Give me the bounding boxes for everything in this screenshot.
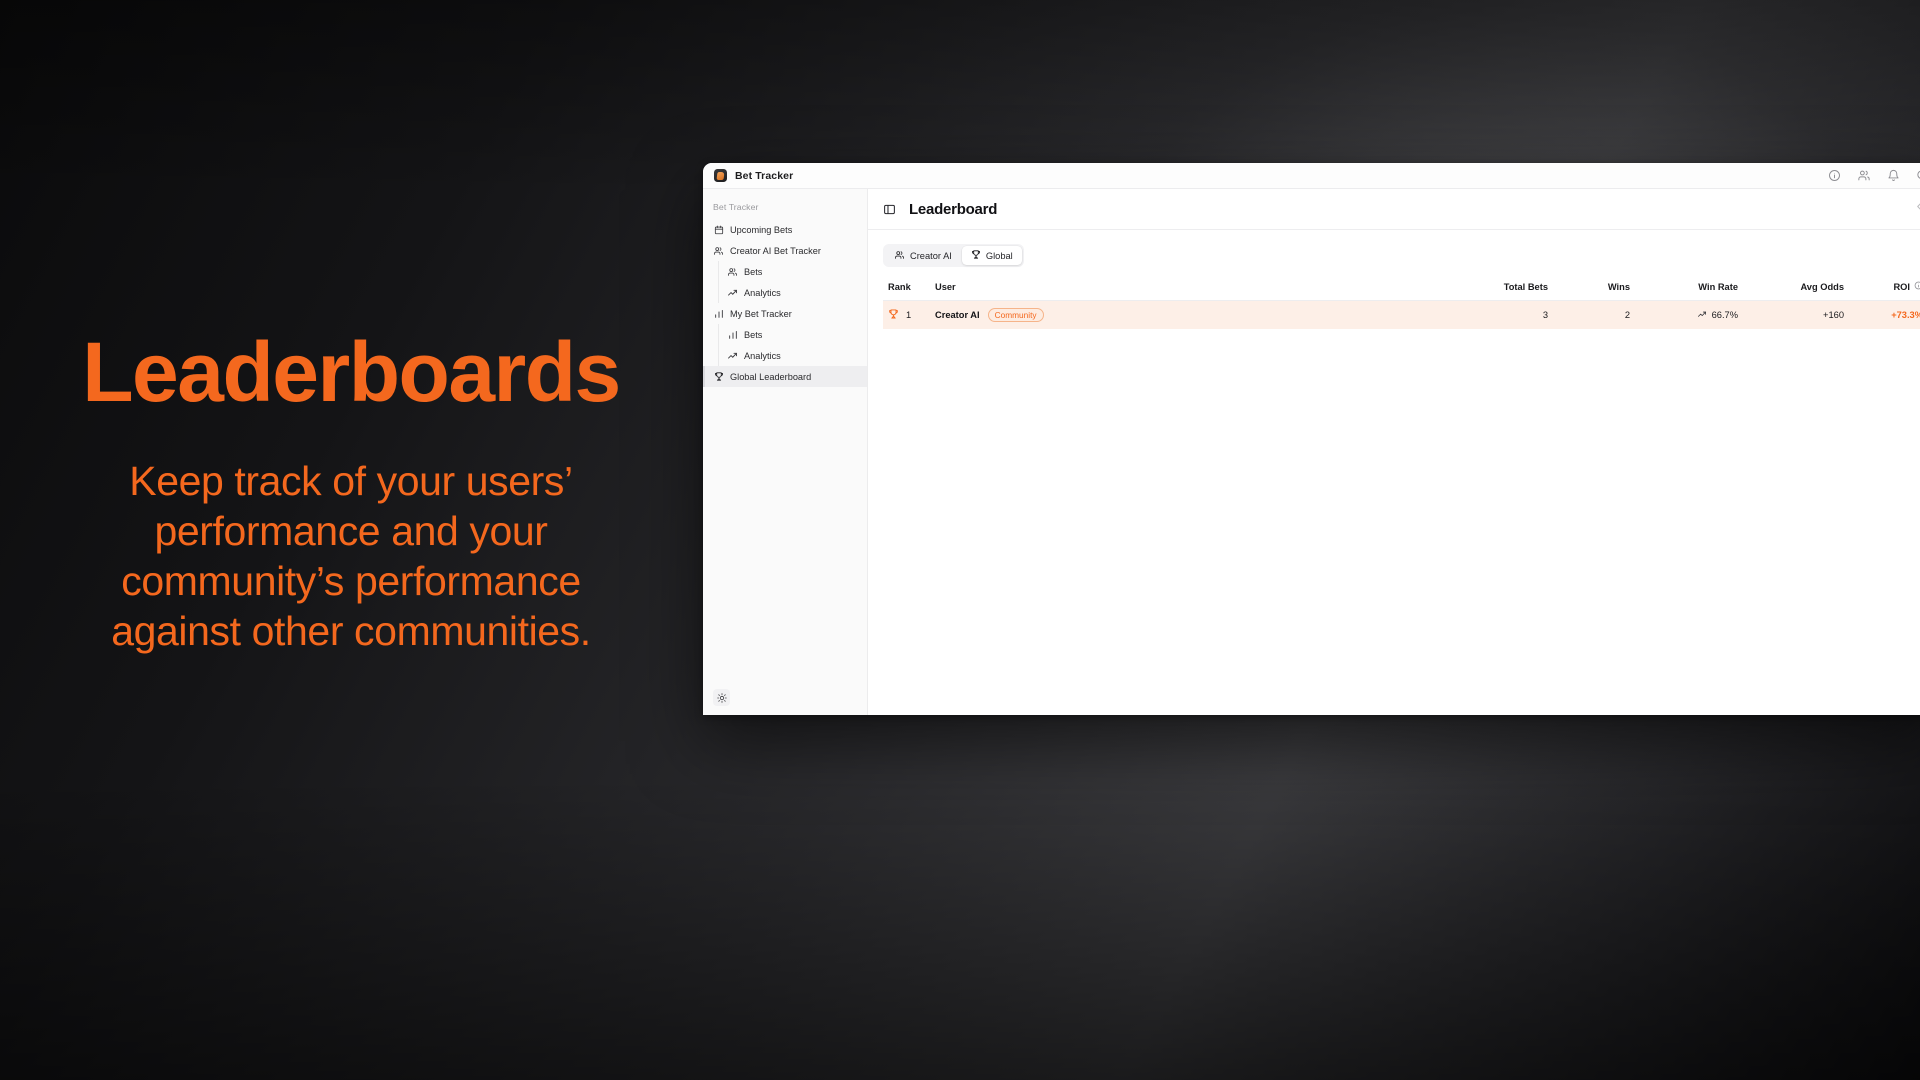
sun-icon[interactable] <box>713 689 730 706</box>
leaderboard-table: Rank User Total Bets Wins Win Rate Avg O… <box>883 281 1920 329</box>
table-header: Rank User Total Bets Wins Win Rate Avg O… <box>883 281 1920 301</box>
sidebar-item-label: Creator AI Bet Tracker <box>730 246 821 256</box>
cell-user: Creator AI Community <box>935 301 1440 330</box>
trending-up-icon <box>727 350 738 361</box>
bet-tracker-app-icon <box>714 169 727 182</box>
leaderboard-scope-tabs-wrap: Creator AI Global <box>868 230 1920 267</box>
sidebar-item-label: My Bet Tracker <box>730 309 792 319</box>
tab-label: Global <box>986 251 1013 261</box>
sidebar-item-my-bet-tracker[interactable]: My Bet Tracker <box>703 303 867 324</box>
sidebar-item-creator-ai-bet-tracker[interactable]: Creator AI Bet Tracker <box>703 240 867 261</box>
trophy-icon <box>713 371 724 382</box>
table-body: 1 Creator AI Community 3 <box>883 301 1920 330</box>
bar-chart-icon <box>713 308 724 319</box>
search-icon[interactable] <box>1916 169 1920 182</box>
sidebar-item-label: Upcoming Bets <box>730 225 792 235</box>
sidebar-item-label: Analytics <box>744 288 781 298</box>
users-icon <box>894 250 905 262</box>
main-header: Leaderboard <box>868 189 1920 230</box>
column-header-win-rate[interactable]: Win Rate <box>1630 281 1738 301</box>
sidebar-item-my-analytics[interactable]: Analytics <box>703 345 867 366</box>
column-header-roi[interactable]: ROI <box>1844 281 1920 301</box>
sidebar-item-my-bets[interactable]: Bets <box>703 324 867 345</box>
table-row[interactable]: 1 Creator AI Community 3 <box>883 301 1920 330</box>
users-icon <box>713 245 724 256</box>
sidebar-item-label: Analytics <box>744 351 781 361</box>
screenshot-stage: Leaderboards Keep track of your users’ p… <box>0 0 1920 1080</box>
main-content: Leaderboard Creator AI <box>868 189 1920 715</box>
window-titlebar: Bet Tracker <box>703 163 1920 189</box>
trending-up-icon <box>727 287 738 298</box>
bar-chart-icon <box>727 329 738 340</box>
page-title: Leaderboard <box>909 201 997 218</box>
promo-subtitle: Keep track of your users’ performance an… <box>0 456 702 656</box>
column-header-rank[interactable]: Rank <box>883 281 935 301</box>
cell-win-rate: 66.7% <box>1630 301 1738 330</box>
sidebar-subgroup-my-bet-tracker: Bets Analytics <box>703 324 867 366</box>
sidebar-item-global-leaderboard[interactable]: Global Leaderboard <box>703 366 867 387</box>
cell-avg-odds: +160 <box>1738 301 1844 330</box>
win-rate-value: 66.7% <box>1712 310 1738 320</box>
users-icon <box>727 266 738 277</box>
tab-creator-ai[interactable]: Creator AI <box>885 246 961 265</box>
sidebar-item-label: Bets <box>744 267 762 277</box>
window-title: Bet Tracker <box>735 170 793 182</box>
rank-value: 1 <box>906 310 911 320</box>
promo-title: Leaderboards <box>0 330 702 414</box>
sidebar-item-label: Global Leaderboard <box>730 372 811 382</box>
leaderboard-scope-tabs: Creator AI Global <box>883 244 1024 267</box>
members-icon[interactable] <box>1857 169 1871 182</box>
user-name: Creator AI <box>935 310 980 320</box>
trophy-icon <box>888 308 899 322</box>
column-header-roi-label: ROI <box>1893 282 1910 292</box>
info-circle-icon[interactable] <box>1914 281 1920 292</box>
sidebar-section-label: Bet Tracker <box>703 198 867 219</box>
tab-global[interactable]: Global <box>962 246 1022 265</box>
leaderboard-table-wrap: Rank User Total Bets Wins Win Rate Avg O… <box>868 267 1920 329</box>
column-header-avg-odds[interactable]: Avg Odds <box>1738 281 1844 301</box>
cell-roi: +73.3% <box>1844 301 1920 330</box>
bell-icon[interactable] <box>1887 169 1900 182</box>
cell-rank: 1 <box>883 301 935 330</box>
promo-block: Leaderboards Keep track of your users’ p… <box>0 330 702 656</box>
sidebar-item-upcoming-bets[interactable]: Upcoming Bets <box>703 219 867 240</box>
column-header-total-bets[interactable]: Total Bets <box>1440 281 1548 301</box>
column-header-user[interactable]: User <box>935 281 1440 301</box>
sidebar-toggle-icon[interactable] <box>883 203 896 216</box>
table-header-row: Rank User Total Bets Wins Win Rate Avg O… <box>883 281 1920 301</box>
sidebar-footer <box>703 689 867 715</box>
column-header-wins[interactable]: Wins <box>1548 281 1630 301</box>
sidebar-subgroup-creator-ai: Bets Analytics <box>703 261 867 303</box>
sidebar-item-creator-ai-analytics[interactable]: Analytics <box>703 282 867 303</box>
cell-wins: 2 <box>1548 301 1630 330</box>
calendar-icon <box>713 224 724 235</box>
window-body: Bet Tracker Upcoming Bets Creator AI Bet… <box>703 189 1920 715</box>
app-window: Bet Tracker Bet Tracker <box>703 163 1920 715</box>
sidebar-item-label: Bets <box>744 330 762 340</box>
status-badge: Community <box>988 308 1044 322</box>
sidebar: Bet Tracker Upcoming Bets Creator AI Bet… <box>703 189 868 715</box>
sidebar-item-creator-ai-bets[interactable]: Bets <box>703 261 867 282</box>
code-icon[interactable] <box>1916 200 1920 218</box>
titlebar-actions <box>1828 169 1920 182</box>
cell-total-bets: 3 <box>1440 301 1548 330</box>
trophy-icon <box>971 249 981 262</box>
trending-up-icon <box>1697 310 1707 321</box>
tab-label: Creator AI <box>910 251 952 261</box>
info-icon[interactable] <box>1828 169 1841 182</box>
